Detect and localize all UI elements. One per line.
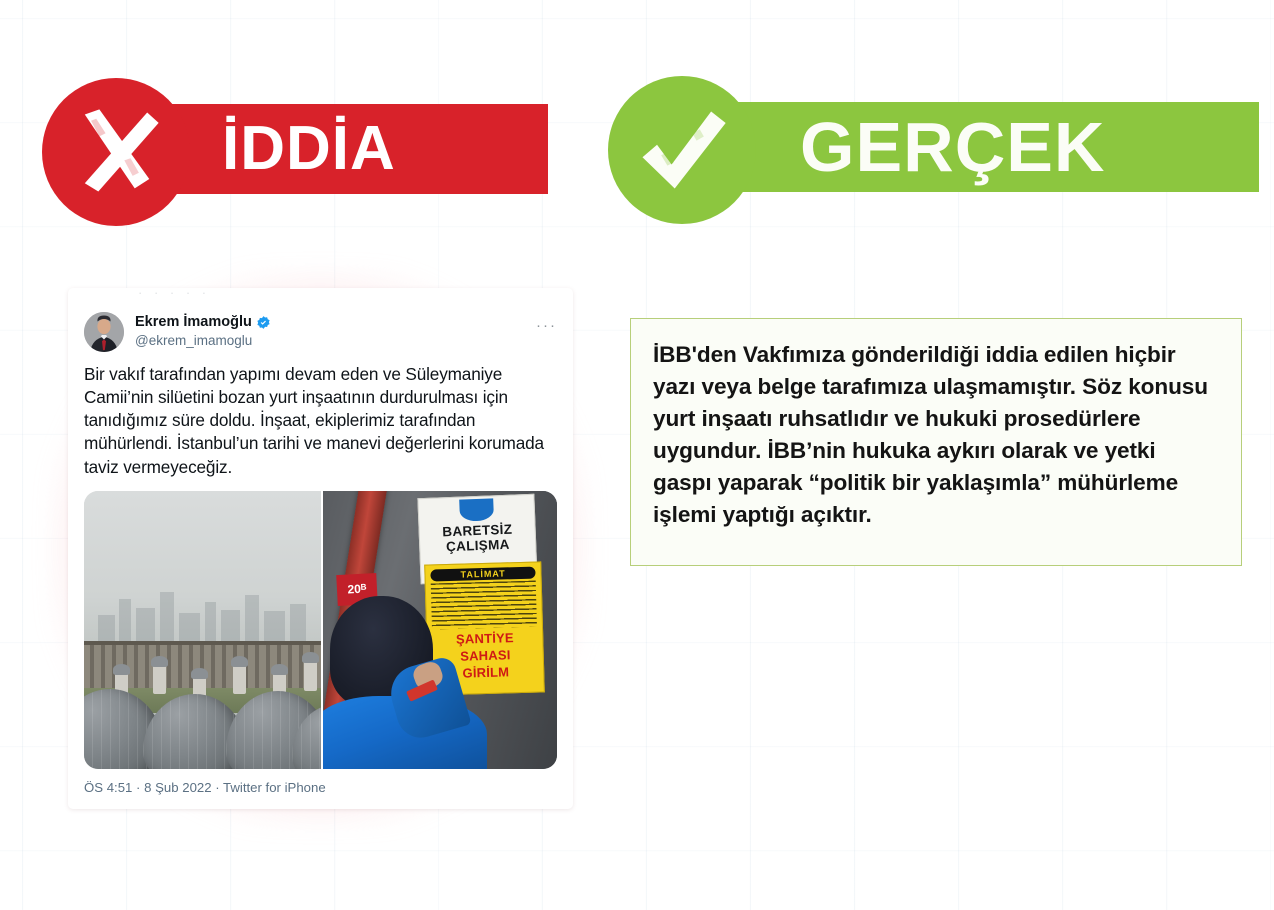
construction-site-sealing-photo[interactable]: 20ᴮ BARETSİZ ÇALIŞMA TALİMAT ŞANTİYE SAH… [321, 491, 558, 769]
check-mark-icon [630, 98, 734, 202]
avatar-photo [84, 312, 124, 352]
photo2-sign-blue-mark [458, 499, 493, 522]
fact-statement-box: İBB'den Vakfımıza gönderildiği iddia edi… [630, 318, 1242, 566]
cropped-dots-icon: · · · · · [138, 288, 210, 300]
suleymaniye-mosque-domes-photo[interactable] [84, 491, 321, 769]
fact-statement-text: İBB'den Vakfımıza gönderildiği iddia edi… [653, 339, 1217, 531]
verified-badge-icon [256, 315, 271, 330]
claim-badge-label: İDDİA [222, 118, 396, 180]
card-top-crop-strip: · · · · · [68, 288, 573, 302]
photo2-yellow-sign-fineprint [430, 580, 536, 629]
fact-badge-bar: GERÇEK [704, 102, 1259, 192]
photo2-white-sign-line2: ÇALIŞMA [420, 536, 536, 556]
fact-badge-label: GERÇEK [800, 112, 1105, 182]
more-options-icon[interactable]: ··· [536, 318, 557, 333]
fact-check-graphic: İDDİA GERÇEK · · · · · [0, 0, 1274, 910]
x-mark-icon [64, 100, 168, 204]
photo2-background: 20ᴮ BARETSİZ ÇALIŞMA TALİMAT ŞANTİYE SAH… [323, 491, 558, 769]
tweet-name-row: Ekrem İmamoğlu [135, 313, 271, 331]
tweet-card[interactable]: · · · · · Ekrem İmamoğlu [68, 288, 573, 809]
photo-dome-row [84, 635, 321, 768]
claim-badge-bar: İDDİA [138, 104, 548, 194]
tweet-author-block: Ekrem İmamoğlu @ekrem_imamoglu [135, 312, 271, 350]
tweet-display-name: Ekrem İmamoğlu [135, 313, 252, 331]
photo2-red-line1: ŞANTİYE [432, 630, 538, 646]
photo2-yellow-sign-title: TALİMAT [430, 566, 536, 581]
tweet-body-text: Bir vakıf tarafından yapımı devam eden v… [68, 352, 573, 479]
tweet-handle: @ekrem_imamoglu [135, 332, 271, 350]
claim-badge-circle [42, 78, 190, 226]
tweet-header: Ekrem İmamoğlu @ekrem_imamoglu ··· [68, 302, 573, 352]
fact-badge-circle [608, 76, 756, 224]
tweet-media-gallery[interactable]: 20ᴮ BARETSİZ ÇALIŞMA TALİMAT ŞANTİYE SAH… [84, 491, 557, 769]
tweet-timestamp-footer: ÖS 4:51 · 8 Şub 2022 · Twitter for iPhon… [68, 769, 573, 805]
avatar[interactable] [84, 312, 124, 352]
